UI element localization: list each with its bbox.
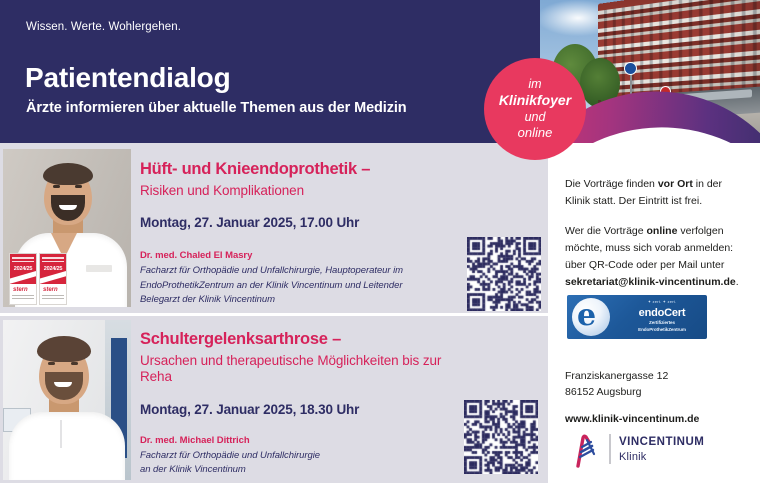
info-text: Die Vorträge finden <box>565 178 658 190</box>
white-polo <box>9 412 125 480</box>
talk-speaker: Dr. med. Chaled El Masry <box>140 250 460 261</box>
talk-subtitle: Ursachen und therapeutische Möglichkeite… <box>140 353 460 385</box>
award-brand: stern <box>13 287 28 293</box>
address-street: Franziskanergasse 12 <box>565 368 745 384</box>
info-emphasis-online: online <box>647 225 678 237</box>
talk-bio-line: an der Klinik Vincentinum <box>140 463 460 477</box>
eye-right <box>71 362 78 365</box>
eye-right <box>75 185 82 188</box>
badge-line-3: und <box>525 110 546 126</box>
page-subtitle: Ärzte informieren über aktuelle Themen a… <box>26 100 407 116</box>
hair <box>43 163 93 185</box>
endocert-tiny-text: ✦ zert. ✦ zert. <box>619 299 705 304</box>
polo-placket <box>60 420 62 448</box>
location-badge: im Klinikfoyer und online <box>484 58 586 160</box>
talk-speaker: Dr. med. Michael Dittrich <box>140 435 460 446</box>
blue-traffic-sign-icon <box>624 62 637 75</box>
smile <box>59 205 77 210</box>
info-paragraph-online: Wer die Vorträge online verfolgen möchte… <box>565 223 747 291</box>
badge-line-2: Klinikfoyer <box>499 92 571 110</box>
vincentinum-mark-icon <box>565 432 601 468</box>
talk-date: Montag, 27. Januar 2025, 18.30 Uhr <box>140 402 460 417</box>
clinic-address: Franziskanergasse 12 86152 Augsburg www.… <box>565 368 745 427</box>
qr-canvas-1 <box>467 237 541 311</box>
talk-block-2: Schultergelenksarthrose – Ursachen und t… <box>140 330 460 477</box>
award-footer-line <box>42 298 64 299</box>
award-text-line <box>12 261 34 263</box>
section-divider <box>0 313 551 316</box>
info-emphasis-onsite: vor Ort <box>658 178 693 190</box>
talk-title: Schultergelenksarthrose – <box>140 330 460 349</box>
talk-date: Montag, 27. Januar 2025, 17.00 Uhr <box>140 215 460 230</box>
endocert-certification-logo: e ✦ zert. ✦ zert. endoCert Zertifizierte… <box>567 295 707 339</box>
talk-title: Hüft- und Knieendoprothetik – <box>140 160 460 179</box>
info-text: Wer die Vorträge <box>565 225 647 237</box>
award-text-line <box>42 257 64 259</box>
info-paragraph-onsite: Die Vorträge finden vor Ort in der Klini… <box>565 176 747 210</box>
eye-left <box>53 185 60 188</box>
eye-left <box>48 362 55 365</box>
award-text-line <box>12 257 34 259</box>
award-text-line <box>42 261 64 263</box>
award-footer-line <box>12 295 34 296</box>
award-badge-stern-2: 2024/25 stern <box>39 253 67 305</box>
clinic-website[interactable]: www.klinik-vincentinum.de <box>565 411 745 427</box>
coat-embroidery <box>86 265 112 272</box>
endocert-sub-line-2: EndoProthetikZentrum <box>638 327 686 332</box>
talk-bio-line: Belegarzt der Klinik Vincentinum <box>140 293 460 307</box>
smile <box>54 382 72 387</box>
logo-name: VINCENTINUM <box>619 436 704 448</box>
badge-line-4: online <box>518 125 553 141</box>
endocert-e-glyph: e <box>577 301 605 332</box>
info-panel: Die Vorträge finden vor Ort in der Klini… <box>551 143 760 483</box>
endocert-name: endoCert <box>619 307 705 319</box>
page-title: Patientendialog <box>25 62 230 94</box>
award-brand: stern <box>43 287 58 293</box>
qr-canvas-2 <box>464 400 538 474</box>
award-badge-stern-1: 2024/25 stern <box>9 253 37 305</box>
talk-block-1: Hüft- und Knieendoprothetik – Risiken un… <box>140 160 460 307</box>
talk-bio-line: Facharzt für Orthopädie und Unfallchirur… <box>140 264 460 278</box>
logo-divider <box>609 434 611 464</box>
talk-bio-line: EndoProthetikZentrum an der Klinik Vince… <box>140 279 460 293</box>
attendance-info: Die Vorträge finden vor Ort in der Klini… <box>565 176 747 304</box>
qr-code-talk-1[interactable] <box>467 237 541 311</box>
endocert-sub-line-1: Zertifiziertes <box>649 320 675 325</box>
contact-email[interactable]: sekretariat@klinik-vincentinum.de <box>565 276 736 288</box>
talk-bio-line: Facharzt für Orthopädie und Unfallchirur… <box>140 449 460 463</box>
building-windows <box>604 0 760 102</box>
logo-sub: Klinik <box>619 451 647 463</box>
speaker-photo-1: 2024/25 stern 2024/25 stern <box>3 149 131 307</box>
award-footer-line <box>12 298 34 299</box>
badge-line-1: im <box>528 77 541 93</box>
speaker-photo-2 <box>3 320 131 480</box>
award-footer-line <box>42 295 64 296</box>
address-city: 86152 Augsburg <box>565 384 745 400</box>
endocert-subtitle: ZertifiziertesEndoProthetikZentrum <box>619 320 705 334</box>
vincentinum-logo: VINCENTINUM Klinik <box>565 430 745 472</box>
flyer-poster: Wissen. Werte. Wohlergehen. Patientendia… <box>0 0 760 483</box>
hair <box>37 336 91 362</box>
talk-subtitle: Risiken und Komplikationen <box>140 183 460 199</box>
qr-code-talk-2[interactable] <box>464 400 538 474</box>
info-text: . <box>736 276 739 288</box>
tagline: Wissen. Werte. Wohlergehen. <box>26 21 181 33</box>
